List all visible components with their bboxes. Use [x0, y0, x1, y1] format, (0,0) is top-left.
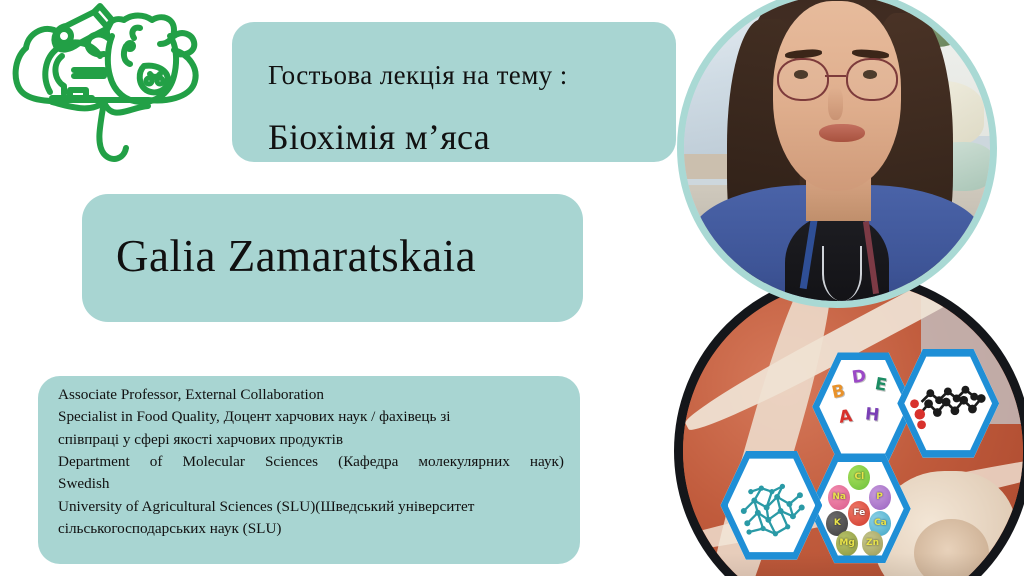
mineral-label-p: P: [869, 485, 891, 510]
nutrient-hexagon-overlay: B D E A H: [683, 281, 1023, 576]
speaker-name-box: Galia Zamaratskaia: [82, 194, 583, 322]
bio-line-5: Swedish: [58, 473, 564, 495]
bio-line-7: сільськогосподарських наук (SLU): [58, 518, 564, 540]
bio-line-2: Specialist in Food Quality, Доцент харчо…: [58, 406, 564, 428]
vitamin-label-d: D: [851, 368, 867, 387]
vitamin-label-b: B: [830, 383, 846, 402]
hexagon-minerals: Cl Na P K Fe Ca Mg Zn: [809, 451, 911, 567]
portrait-glasses-right-lens: [846, 58, 897, 102]
mineral-label-fe: Fe: [848, 501, 870, 526]
vitamin-label-a: A: [838, 408, 853, 427]
lecture-title-box: Гостьова лекція на тему : Біохімія м’яса: [232, 22, 676, 162]
speaker-name: Galia Zamaratskaia: [116, 230, 476, 282]
speaker-bio-text: Associate Professor, External Collaborat…: [58, 384, 564, 540]
lecture-title-line-2: Біохімія м’яса: [268, 116, 490, 158]
mineral-label-mg: Mg: [836, 531, 858, 556]
bio-line-6: University of Agricultural Sciences (SLU…: [58, 496, 564, 518]
speaker-bio-box: Associate Professor, External Collaborat…: [38, 376, 580, 564]
bio-line-3: співпраці у сфері якості харчових продук…: [58, 429, 564, 451]
meat-nutrients-photo: B D E A H: [674, 272, 1024, 576]
bio-line-1: Associate Professor, External Collaborat…: [58, 384, 564, 406]
portrait-lips: [819, 124, 865, 142]
portrait-glasses-bridge: [825, 75, 846, 77]
lecture-announcement-slide: Гостьова лекція на тему : Біохімія м’яса…: [0, 0, 1024, 576]
vitamin-label-e: E: [873, 376, 887, 395]
portrait-scene: [684, 0, 990, 301]
mineral-label-zn: Zn: [862, 531, 884, 556]
vitamin-label-h: H: [864, 406, 880, 424]
portrait-glasses-left-lens: [777, 58, 828, 102]
bio-line-4: Department of Molecular Sciences (Кафедр…: [58, 451, 564, 473]
lecture-title-line-1: Гостьова лекція на тему :: [268, 60, 568, 91]
hexagon-fatty-acid: [897, 346, 999, 462]
speaker-portrait-photo: [677, 0, 997, 308]
microscope-and-cow-head-emblem-icon: [8, 2, 208, 177]
mineral-label-na: Na: [828, 485, 850, 510]
portrait-necklace: [822, 246, 863, 301]
portrait-nose: [828, 87, 843, 121]
mineral-label-cl: Cl: [848, 465, 870, 490]
hexagon-protein: [720, 448, 822, 564]
